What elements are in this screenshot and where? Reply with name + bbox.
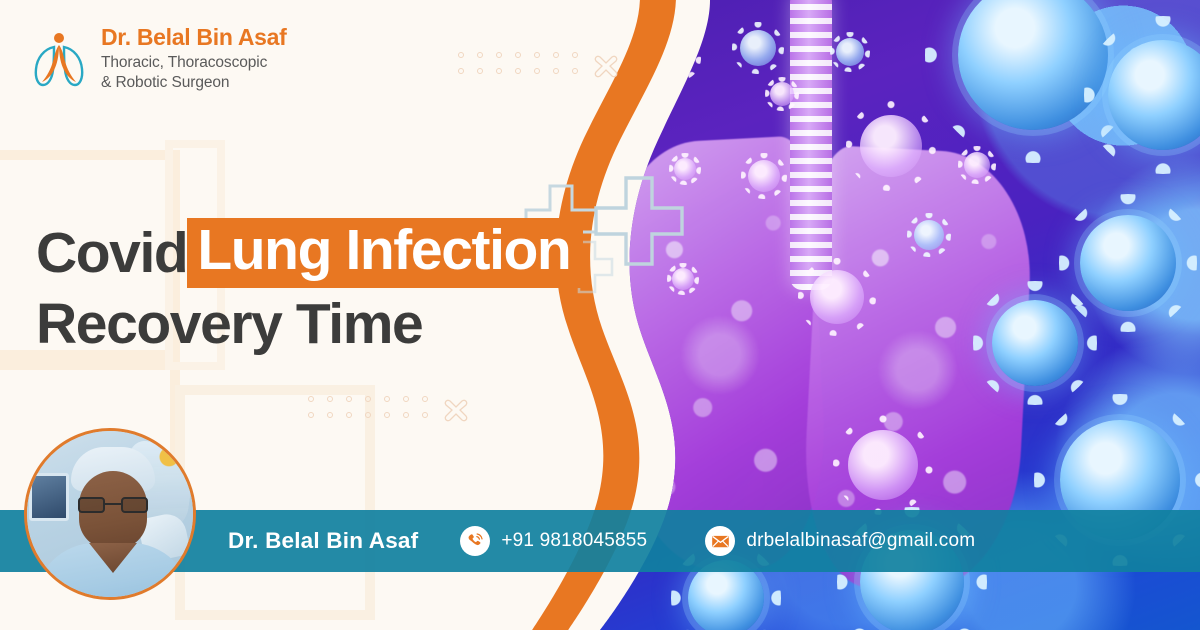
coronavirus-particle-icon (992, 300, 1078, 386)
brand-logo[interactable]: Dr. Belal Bin Asaf Thoracic, Thoracoscop… (30, 26, 286, 93)
dot-grid (308, 396, 434, 424)
dot-grid (458, 52, 584, 80)
contact-email[interactable]: drbelalbinasaf@gmail.com (705, 526, 975, 556)
coronavirus-particle-icon (836, 38, 864, 66)
coronavirus-particle-icon (748, 160, 780, 192)
coronavirus-particle-icon (770, 82, 794, 106)
coronavirus-particle-icon (848, 430, 918, 500)
coronavirus-particle-icon (810, 270, 864, 324)
x-cross-icon (593, 53, 619, 79)
coronavirus-particle-icon (914, 220, 944, 250)
contact-phone-number: +91 9818045855 (501, 530, 647, 552)
contact-phone[interactable]: +91 9818045855 (460, 526, 647, 556)
brand-name: Dr. Belal Bin Asaf (101, 26, 286, 49)
headline-line-2: Recovery Time (36, 295, 656, 353)
headline-highlight: Lung Infection (187, 218, 583, 288)
coronavirus-particle-icon (672, 268, 694, 290)
page-title: CovidLung Infection Recovery Time (36, 218, 656, 353)
banner-root: Dr. Belal Bin Asaf Thoracic, Thoracoscop… (0, 0, 1200, 630)
phone-icon (460, 526, 490, 556)
headline-plain-2: Recovery Time (36, 292, 422, 356)
envelope-icon (705, 526, 735, 556)
decorative-dot-pattern (458, 52, 619, 80)
lungs-person-logo-icon (30, 28, 88, 90)
doctor-portrait-photo (27, 431, 193, 597)
avatar[interactable]: Dr. Belal Bin Asaf portrait in surgical … (24, 428, 196, 600)
coronavirus-particle-icon (1080, 215, 1176, 311)
coronavirus-particle-icon (1108, 40, 1200, 150)
trachea-illustration (790, 0, 832, 290)
coronavirus-particle-icon (740, 30, 776, 66)
brand-subtitle-line2: & Robotic Surgeon (101, 73, 286, 93)
eyeglasses-icon (77, 497, 149, 513)
operating-room-monitor (29, 473, 69, 521)
x-cross-icon (443, 397, 469, 423)
coronavirus-particle-icon (860, 115, 922, 177)
headline-line-1: CovidLung Infection (36, 218, 656, 288)
coronavirus-particle-icon (662, 42, 694, 74)
brand-text: Dr. Belal Bin Asaf Thoracic, Thoracoscop… (101, 26, 286, 93)
headline-plain-1: Covid (36, 221, 187, 285)
brand-subtitle-line1: Thoracic, Thoracoscopic (101, 53, 286, 73)
contact-email-address: drbelalbinasaf@gmail.com (746, 530, 975, 552)
coronavirus-particle-icon (964, 152, 990, 178)
decorative-dot-pattern (308, 396, 469, 424)
contact-doctor-name: Dr. Belal Bin Asaf (228, 528, 418, 554)
